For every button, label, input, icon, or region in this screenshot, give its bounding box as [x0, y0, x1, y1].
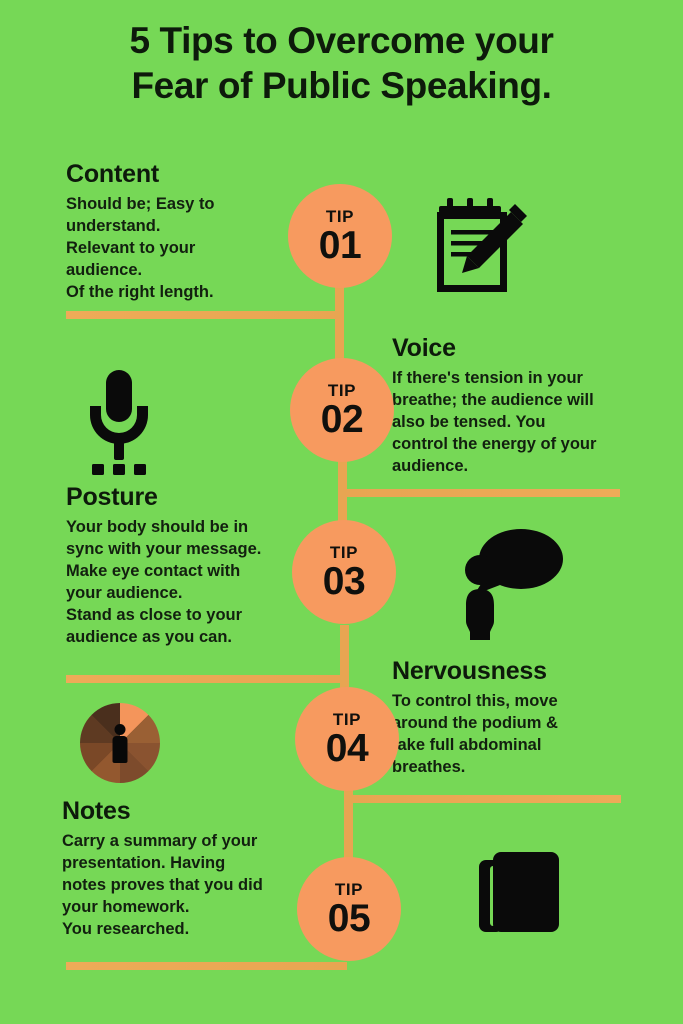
- tip-label-01: TIP: [326, 208, 354, 225]
- connector-branch-content: [66, 311, 339, 319]
- tip-body-03: Your body should be in sync with your me…: [66, 517, 316, 649]
- connector-branch-nervousness: [344, 795, 621, 803]
- title-line-2: Fear of Public Speaking.: [0, 63, 683, 108]
- person-speech-bubble-icon: [458, 528, 566, 645]
- tip-body-01: Should be; Easy to understand. Relevant …: [66, 194, 296, 304]
- tip-bubble-01[interactable]: TIP 01: [288, 184, 392, 288]
- tip-label-03: TIP: [330, 544, 358, 561]
- tip-content-block-02: Voice If there's tension in your breathe…: [392, 334, 642, 478]
- tip-number-01: 01: [319, 226, 361, 265]
- infographic-canvas: 5 Tips to Overcome your Fear of Public S…: [0, 0, 683, 1024]
- tip-number-05: 05: [328, 899, 370, 938]
- tip-body-05: Carry a summary of your presentation. Ha…: [62, 831, 314, 941]
- tip-content-block-04: Nervousness To control this, move around…: [392, 657, 632, 779]
- tip-number-03: 03: [323, 562, 365, 601]
- stage-person-figure: [113, 724, 128, 763]
- connector-branch-posture: [66, 675, 342, 683]
- tip-body-02: If there's tension in your breathe; the …: [392, 368, 642, 478]
- tip-number-04: 04: [326, 729, 368, 768]
- tip-content-block-01: Content Should be; Easy to understand. R…: [66, 160, 296, 304]
- tip-bubble-05[interactable]: TIP 05: [297, 857, 401, 961]
- tip-heading-03: Posture: [66, 483, 316, 512]
- tip-body-04: To control this, move around the podium …: [392, 691, 632, 779]
- tip-heading-05: Notes: [62, 797, 314, 826]
- stage-podium-icon: [80, 703, 160, 783]
- tip-heading-02: Voice: [392, 334, 642, 363]
- book-icon: [477, 850, 561, 941]
- stage-person-body: [113, 736, 128, 763]
- tip-bubble-04[interactable]: TIP 04: [295, 687, 399, 791]
- stage-person-head: [115, 724, 126, 735]
- tip-content-block-03: Posture Your body should be in sync with…: [66, 483, 316, 649]
- tip-number-02: 02: [321, 400, 363, 439]
- connector-branch-voice: [340, 489, 620, 497]
- tip-label-05: TIP: [335, 881, 363, 898]
- connector-branch-notes: [66, 962, 347, 970]
- tip-heading-04: Nervousness: [392, 657, 632, 686]
- tip-content-block-05: Notes Carry a summary of your presentati…: [62, 797, 314, 941]
- tip-bubble-03[interactable]: TIP 03: [292, 520, 396, 624]
- page-title: 5 Tips to Overcome your Fear of Public S…: [0, 18, 683, 108]
- notepad-pencil-icon: [427, 192, 531, 301]
- stage-disc: [80, 703, 160, 783]
- tip-label-02: TIP: [328, 382, 356, 399]
- title-line-1: 5 Tips to Overcome your: [0, 18, 683, 63]
- microphone-icon: [76, 368, 162, 483]
- tip-bubble-02[interactable]: TIP 02: [290, 358, 394, 462]
- tip-label-04: TIP: [333, 711, 361, 728]
- tip-heading-01: Content: [66, 160, 296, 189]
